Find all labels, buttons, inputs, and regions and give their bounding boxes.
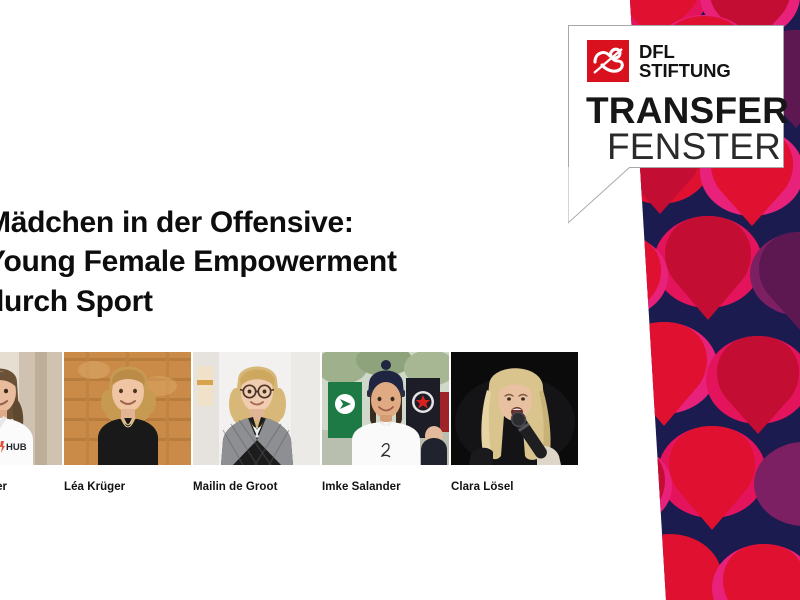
speaker-list: SAFE HUB Lena Winkler [0,352,580,495]
speaker-card: Léa Krüger [64,352,192,495]
speaker-name: Léa Krüger [64,481,192,495]
speaker-name: Imke Salander [322,481,450,495]
dfl-logo-line2: STIFTUNG [639,60,731,81]
speaker-portrait: SAFE HUB [0,352,62,465]
dfl-stiftung-logo: DFL STIFTUNG [587,40,731,82]
speaker-portrait [64,352,191,465]
speaker-card: SAFE HUB Lena Winkler [0,352,63,495]
speaker-card: Clara Lösel [451,352,579,495]
transfer-wordmark: TRANSFER [586,92,789,129]
dfl-swirl-icon [587,40,629,82]
fenster-wordmark: FENSTER [607,128,781,165]
speaker-name: Clara Lösel [451,481,579,495]
speaker-name: Mailin de Groot [193,481,321,495]
dfl-logo-line1: DFL [639,41,675,62]
speaker-card: Imke Salander [322,352,450,495]
speaker-card: Mailin de Groot [193,352,321,495]
svg-text:HUB: HUB [6,442,27,453]
dfl-stiftung-wordmark: DFL STIFTUNG [639,42,731,80]
speaker-portrait [322,352,449,465]
page-title: Mädchen in der Offensive: Young Female E… [0,203,546,321]
speech-bubble-tail [568,167,638,225]
slide-canvas: DFL STIFTUNG TRANSFER FENSTER Mädchen in… [0,0,800,600]
speaker-name: Lena Winkler [0,481,63,495]
speaker-portrait [451,352,578,465]
speaker-portrait [193,352,320,465]
transferfenster-logo-card: DFL STIFTUNG TRANSFER FENSTER [568,25,784,168]
